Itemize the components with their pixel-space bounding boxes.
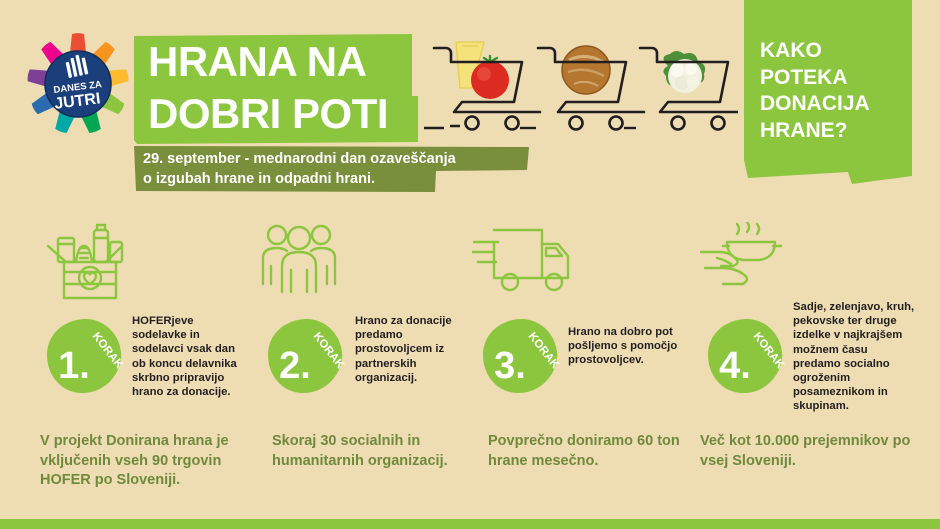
logo-petals-icon: DANES ZA JUTRI [26,32,130,136]
step-1-badge: 1. KORAK [44,316,124,396]
step-4: 4. KORAK Sadje, zelenjavo, kruh, pekovsk… [695,222,910,422]
page-title-line2: DOBRI POTI [148,88,438,140]
step-1: 1. KORAK HOFERjeve sodelavke in sodelavc… [34,222,249,422]
page-title: HRANA NA DOBRI POTI [148,36,438,140]
question-line2: POTEKA [760,65,940,92]
fact-4: Več kot 10.000 prejemnikov po vsej Slove… [700,432,930,471]
step-2-badge: 2. KORAK [265,316,345,396]
infographic-canvas: DANES ZA JUTRI HRANA NA DOBRI POTI 29. s… [0,0,940,529]
step-1-text: HOFERjeve sodelavke in sodelavci vsak da… [132,314,250,399]
delivery-truck-icon [472,222,582,308]
donation-box-with-heart-icon [36,222,146,308]
shopping-carts-illustration [418,26,738,148]
step-1-number: 1. [58,345,90,387]
step-4-number: 4. [719,345,751,387]
fact-1: V projekt Donirana hrana je vključenih v… [40,432,250,491]
question-line3: DONACIJA [760,91,940,118]
fact-2: Skoraj 30 socialnih in humanitarnih orga… [272,432,472,471]
step-4-badge: 4. KORAK [705,316,785,396]
danes-za-jutri-logo: DANES ZA JUTRI [26,32,130,136]
cart-1 [434,42,540,130]
cauliflower-icon [663,51,705,93]
page-title-line1: HRANA NA [148,36,438,88]
page-subtitle: 29. september - mednarodni dan ozaveščan… [143,149,543,189]
cart-3 [640,48,738,130]
step-3-number: 3. [494,345,526,387]
page-subtitle-line1: 29. september - mednarodni dan ozaveščan… [143,149,543,169]
step-2-number: 2. [279,345,311,387]
fact-3: Povprečno doniramo 60 ton hrane mesečno. [488,432,688,471]
volunteers-people-icon [257,222,367,308]
question-line4: HRANE? [760,118,940,145]
step-3: 3. KORAK Hrano na dobro pot pošljemo s p… [470,222,685,422]
page-subtitle-line2: o izgubah hrane in odpadni hrani. [143,169,543,189]
step-2: 2. KORAK Hrano za donacije predamo prost… [255,222,470,422]
question-box-text: KAKO POTEKA DONACIJA HRANE? [760,38,940,144]
step-2-text: Hrano za donacije predamo prostovoljcem … [355,314,473,385]
bottom-accent-bar [0,519,940,529]
hands-holding-bowl-icon [697,222,807,308]
question-line1: KAKO [760,38,940,65]
step-3-badge: 3. KORAK [480,316,560,396]
step-3-text: Hrano na dobro pot pošljemo s pomočjo pr… [568,325,686,368]
cart-2 [538,46,644,130]
step-4-text: Sadje, zelenjavo, kruh, pekovske ter dru… [793,300,917,414]
bread-loaf-icon [562,46,610,94]
